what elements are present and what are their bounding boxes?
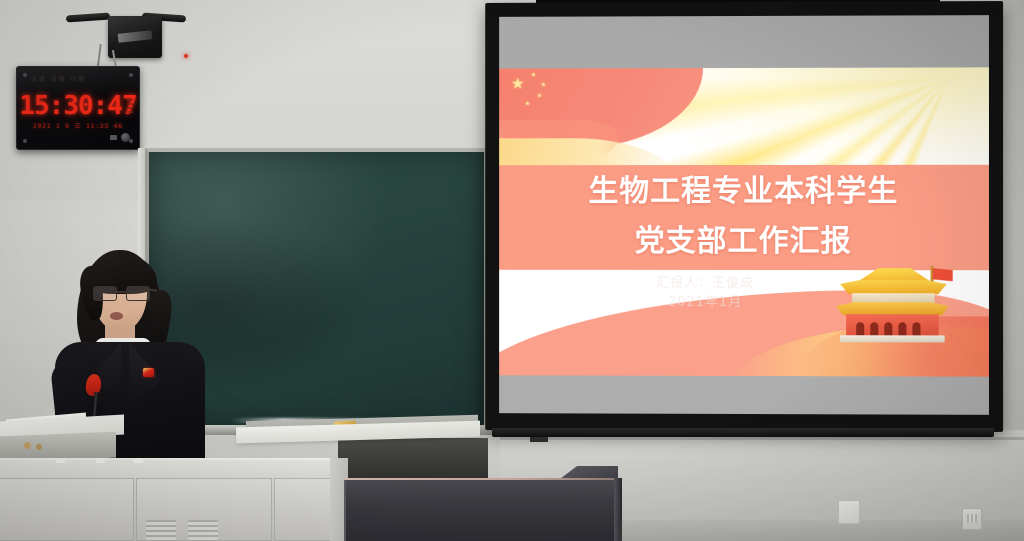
slide-title: 生物工程专业本科学生 党支部工作汇报 — [499, 167, 989, 267]
projection-screen: ★ ★ ★ ★ ★ 生物工程专业本科学生 党支部工作汇报 — [485, 1, 1003, 432]
clock-screw-icon — [129, 73, 133, 77]
screen-bottom-bar — [492, 428, 994, 437]
presenter-name-line: 汇报人：王俊成 — [590, 274, 820, 293]
tiananmen-arch — [912, 322, 920, 336]
eyeglass-lens-left — [93, 286, 117, 301]
clock-screw-icon — [129, 139, 133, 143]
slide-wave-nub — [690, 314, 720, 342]
router-body — [108, 16, 162, 58]
dark-furniture-panel — [344, 480, 622, 541]
screen-surface: ★ ★ ★ ★ ★ 生物工程专业本科学生 党支部工作汇报 — [499, 15, 989, 415]
outlet-socket-icon — [967, 514, 977, 523]
cabinet-door[interactable] — [0, 478, 134, 541]
cabinet-vent-icon — [146, 520, 176, 540]
cabinet-nub — [56, 458, 65, 463]
wall-trim-line — [500, 437, 1024, 440]
wall-outlet[interactable] — [962, 508, 982, 530]
lectern-knob — [24, 442, 31, 449]
flag-star-icon: ★ — [511, 77, 524, 92]
eyeglass-bridge — [115, 291, 126, 293]
slide-title-line2: 党支部工作汇报 — [499, 217, 989, 267]
led-wall-clock: 温度 湿度 日期 15:30:47 2021 1 6 三 11:23 46 — [16, 66, 140, 150]
classroom-scene: 温度 湿度 日期 15:30:47 2021 1 6 三 11:23 46 ★ … — [0, 0, 1024, 541]
presentation-slide: ★ ★ ★ ★ ★ 生物工程专业本科学生 党支部工作汇报 — [499, 67, 989, 376]
wireless-router — [86, 2, 184, 58]
letterbox-bottom — [499, 375, 989, 415]
tiananmen-icon — [830, 264, 957, 350]
slide-subtitle: 汇报人：王俊成 2021年1月 — [590, 274, 820, 312]
flag-star-icon: ★ — [541, 82, 546, 88]
tiananmen-arch — [870, 322, 878, 336]
clock-screw-icon — [23, 139, 27, 143]
cabinet-vent-icon — [188, 520, 218, 540]
clock-screw-icon — [23, 73, 27, 77]
flag-star-icon: ★ — [537, 93, 542, 99]
tiananmen-arch — [884, 322, 892, 336]
clock-header-labels: 温度 湿度 日期 — [31, 74, 125, 81]
tiananmen-arch — [898, 322, 906, 336]
clock-button[interactable] — [121, 133, 130, 142]
presentation-date-line: 2021年1月 — [590, 293, 820, 312]
tiananmen-flag — [933, 268, 953, 281]
eyeglass-lens-right — [126, 286, 150, 301]
cabinet-nub — [96, 458, 105, 463]
clock-signal-icon — [127, 99, 133, 115]
clock-sensor-icon — [110, 135, 117, 140]
eyeglasses-icon — [93, 286, 149, 299]
cabinet-nub — [134, 458, 143, 463]
slide-title-line1: 生物工程专业本科学生 — [499, 167, 989, 217]
letterbox-top — [499, 15, 989, 68]
tiananmen-upper-eave — [840, 280, 947, 294]
tiananmen-arch — [856, 322, 864, 336]
clock-time-display: 15:30:47 — [17, 91, 139, 121]
presenter-mouth — [110, 312, 123, 320]
right-wall-shadow — [1000, 0, 1024, 470]
screen-hook — [530, 437, 548, 442]
desk-underside-shadow — [338, 438, 488, 482]
lectern-knob — [36, 444, 42, 450]
clock-secondary-display: 2021 1 6 三 11:23 46 — [17, 121, 139, 130]
router-led-icon — [184, 54, 188, 58]
flag-star-icon: ★ — [531, 73, 536, 79]
light-switch-plate[interactable] — [838, 500, 860, 524]
party-emblem-pin-icon — [143, 368, 154, 377]
router-logo — [118, 30, 153, 43]
tiananmen-base — [840, 335, 945, 342]
flag-star-icon: ★ — [525, 101, 530, 107]
